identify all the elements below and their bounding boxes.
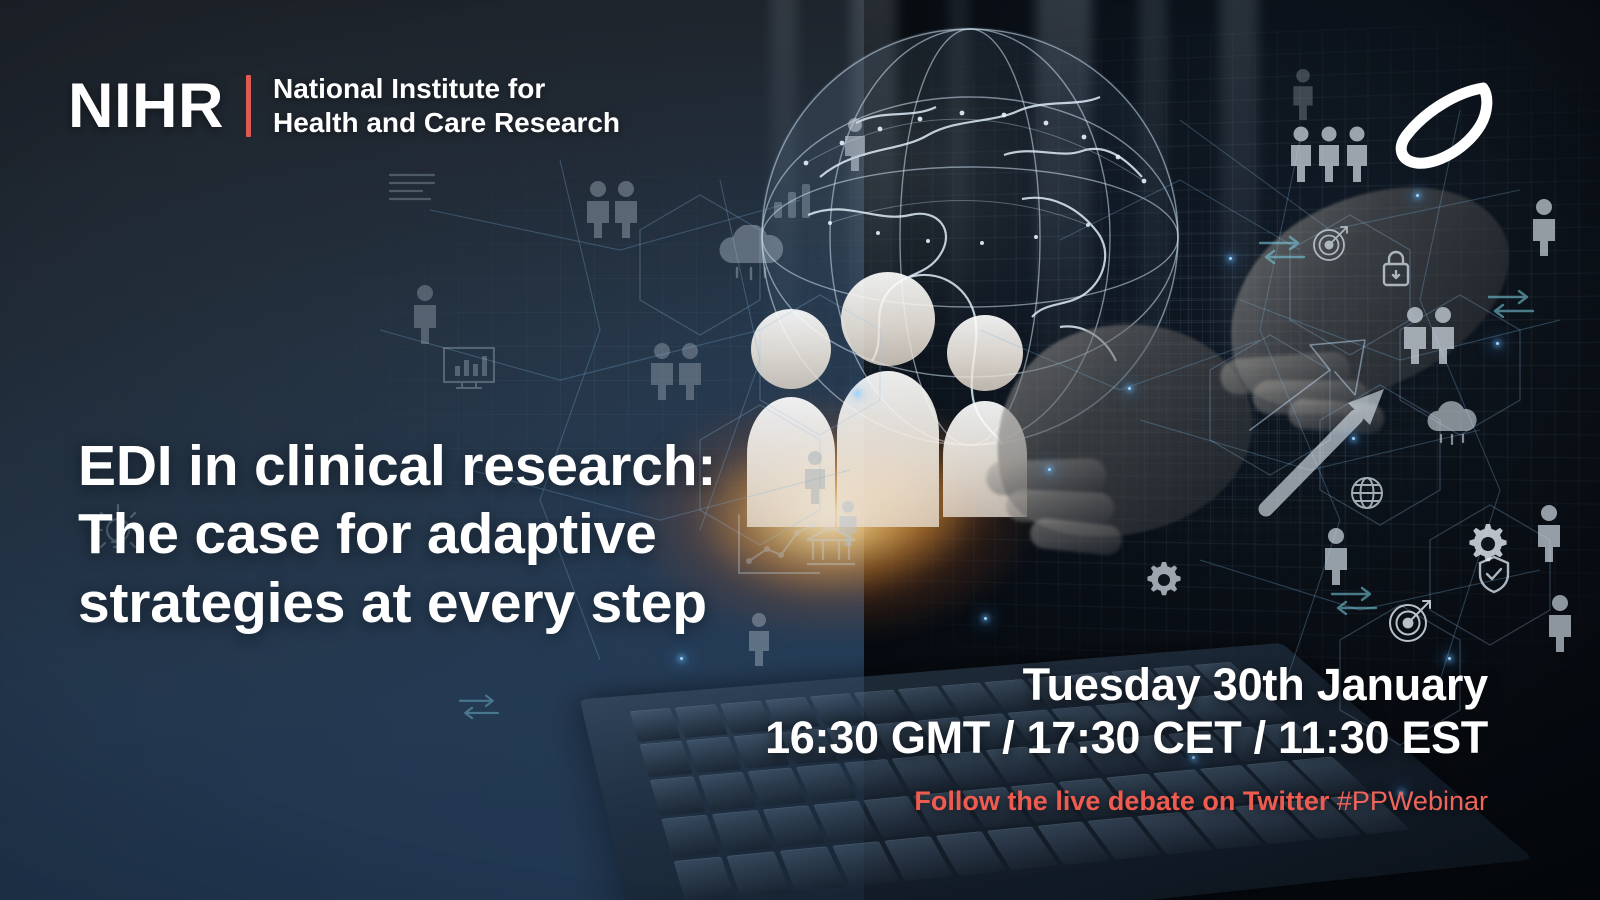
cloud-icon xyxy=(712,225,790,281)
node-sparkle xyxy=(984,617,987,620)
headline-line-2: The case for adaptive xyxy=(78,500,778,568)
social-lead-text: Follow the live debate on Twitter xyxy=(914,786,1329,816)
person-icon xyxy=(648,342,704,400)
node-sparkle xyxy=(1128,387,1131,390)
node-sparkle xyxy=(1416,194,1419,197)
exchange-arrows-icon xyxy=(1256,234,1308,264)
headline-line-3: strategies at every step xyxy=(78,569,778,637)
node-sparkle xyxy=(1048,468,1051,471)
social-hashtag[interactable]: #PPWebinar xyxy=(1337,786,1488,816)
bar-chart-icon xyxy=(768,180,820,220)
nihr-name-line-2: Health and Care Research xyxy=(273,106,620,140)
target-bullseye-icon xyxy=(1384,594,1436,646)
document-lines-icon xyxy=(384,167,442,209)
nihr-acronym: NIHR xyxy=(68,75,224,138)
person-icon xyxy=(1544,594,1576,652)
target-bullseye-icon xyxy=(1309,221,1353,265)
exchange-arrows-icon xyxy=(1485,288,1537,318)
node-sparkle xyxy=(680,657,683,660)
person-icon xyxy=(1288,68,1318,120)
person-icon xyxy=(1528,198,1560,256)
globe-small-icon xyxy=(1347,473,1387,513)
bar-chart-icon xyxy=(440,342,498,392)
node-sparkle xyxy=(1229,257,1232,260)
person-icon xyxy=(1288,126,1370,182)
exchange-arrows-icon xyxy=(1328,585,1380,615)
person-icon xyxy=(584,180,640,238)
page-title: EDI in clinical research: The case for a… xyxy=(78,432,778,637)
node-sparkle xyxy=(856,392,859,395)
headline-line-1: EDI in clinical research: xyxy=(78,432,778,500)
gear-icon xyxy=(1144,558,1192,604)
webinar-promo-banner: NIHR National Institute for Health and C… xyxy=(0,0,1600,900)
nihr-full-name: National Institute for Health and Care R… xyxy=(273,72,620,141)
person-icon xyxy=(800,450,830,504)
person-icon xyxy=(835,500,861,546)
person-icon xyxy=(840,117,870,171)
person-icon xyxy=(1320,527,1352,585)
exchange-arrows-icon xyxy=(456,693,502,719)
social-callout: Follow the live debate on Twitter #PPWeb… xyxy=(914,785,1488,817)
nihr-logo: NIHR National Institute for Health and C… xyxy=(68,72,620,141)
person-icon xyxy=(408,284,442,344)
nihr-name-line-1: National Institute for xyxy=(273,72,620,106)
event-datetime: Tuesday 30th January 16:30 GMT / 17:30 C… xyxy=(765,660,1488,764)
event-date: Tuesday 30th January xyxy=(765,660,1488,710)
cloud-icon xyxy=(1421,401,1483,445)
lock-icon xyxy=(1379,248,1413,288)
triangle-arrow-logo-icon xyxy=(1386,78,1494,178)
node-sparkle xyxy=(1496,342,1499,345)
person-icon xyxy=(1533,504,1565,562)
event-times: 16:30 GMT / 17:30 CET / 11:30 EST xyxy=(765,712,1488,764)
node-sparkle xyxy=(1352,437,1355,440)
logo-divider-rule xyxy=(246,75,251,137)
gear-icon xyxy=(1464,518,1524,574)
person-icon xyxy=(1400,306,1458,364)
